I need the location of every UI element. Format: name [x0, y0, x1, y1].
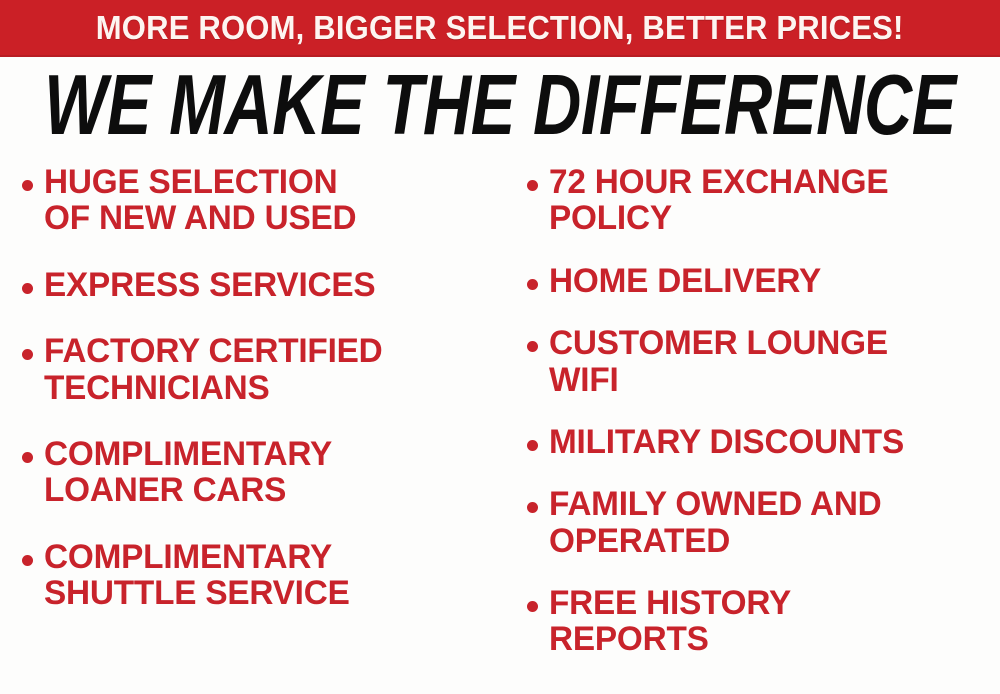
bullet-dot-icon	[22, 452, 33, 463]
list-item-label: EXPRESS SERVICES	[44, 267, 375, 303]
bullet-dot-icon	[527, 601, 538, 612]
bullet-dot-icon	[22, 180, 33, 191]
list-item-label: MILITARY DISCOUNTS	[549, 424, 904, 460]
list-item: 72 HOUR EXCHANGE POLICY	[527, 164, 1000, 237]
list-item-label: COMPLIMENTARY SHUTTLE SERVICE	[44, 539, 350, 612]
benefits-columns: HUGE SELECTION OF NEW AND USED EXPRESS S…	[0, 156, 1000, 694]
list-item: FAMILY OWNED AND OPERATED	[527, 486, 1000, 559]
list-item-label: FACTORY CERTIFIED TECHNICIANS	[44, 333, 383, 406]
page-title: WE MAKE THE DIFFERENCE	[44, 63, 956, 148]
bullet-dot-icon	[22, 283, 33, 294]
list-item: EXPRESS SERVICES	[22, 267, 505, 303]
list-item: CUSTOMER LOUNGE WIFI	[527, 325, 1000, 398]
list-item-label: FAMILY OWNED AND OPERATED	[549, 486, 882, 559]
bullet-dot-icon	[22, 555, 33, 566]
bullet-dot-icon	[527, 279, 538, 290]
bullet-dot-icon	[527, 180, 538, 191]
headline-container: WE MAKE THE DIFFERENCE	[0, 62, 1000, 150]
promo-banner: MORE ROOM, BIGGER SELECTION, BETTER PRIC…	[0, 0, 1000, 57]
benefits-column-left: HUGE SELECTION OF NEW AND USED EXPRESS S…	[0, 156, 505, 694]
list-item-label: HOME DELIVERY	[549, 263, 821, 299]
bullet-dot-icon	[527, 440, 538, 451]
list-item: COMPLIMENTARY LOANER CARS	[22, 436, 505, 509]
list-item: HUGE SELECTION OF NEW AND USED	[22, 164, 505, 237]
list-item: HOME DELIVERY	[527, 263, 1000, 299]
list-item-label: HUGE SELECTION OF NEW AND USED	[44, 164, 356, 237]
list-item-label: COMPLIMENTARY LOANER CARS	[44, 436, 332, 509]
promo-banner-text: MORE ROOM, BIGGER SELECTION, BETTER PRIC…	[96, 11, 904, 44]
list-item-label: FREE HISTORY REPORTS	[549, 585, 791, 658]
bullet-dot-icon	[22, 349, 33, 360]
list-item-label: CUSTOMER LOUNGE WIFI	[549, 325, 888, 398]
bullet-dot-icon	[527, 502, 538, 513]
bullet-dot-icon	[527, 341, 538, 352]
list-item: FACTORY CERTIFIED TECHNICIANS	[22, 333, 505, 406]
list-item: FREE HISTORY REPORTS	[527, 585, 1000, 658]
list-item-label: 72 HOUR EXCHANGE POLICY	[549, 164, 888, 237]
list-item: MILITARY DISCOUNTS	[527, 424, 1000, 460]
benefits-column-right: 72 HOUR EXCHANGE POLICY HOME DELIVERY CU…	[505, 156, 1000, 694]
list-item: COMPLIMENTARY SHUTTLE SERVICE	[22, 539, 505, 612]
